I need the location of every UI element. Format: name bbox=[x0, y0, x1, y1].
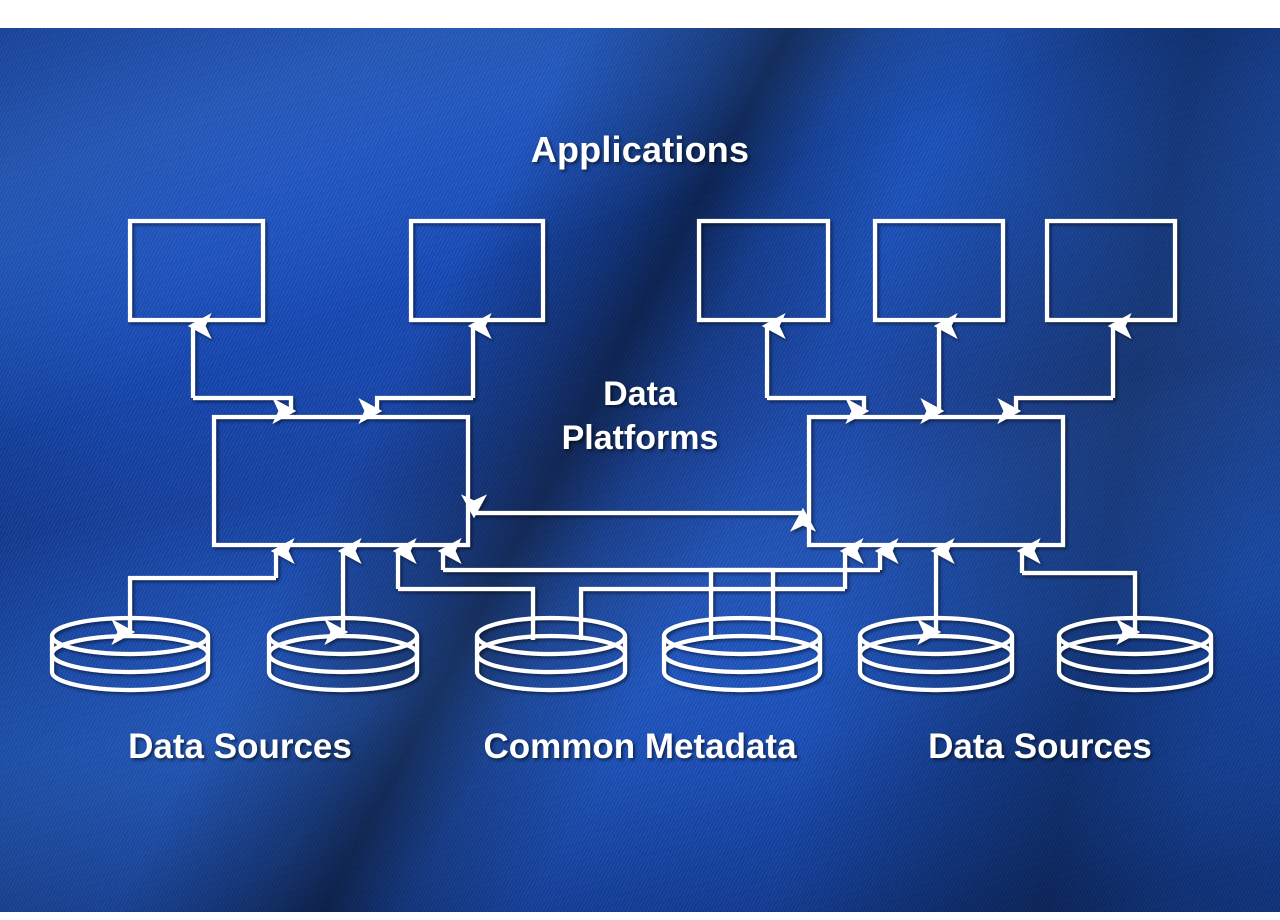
metadata-cylinder-3[interactable] bbox=[477, 618, 625, 690]
connector-app1-platform-left-elbow[interactable] bbox=[193, 398, 291, 411]
data-platform-box-left[interactable] bbox=[214, 417, 468, 545]
section-label-common-metadata: Common Metadata bbox=[420, 729, 860, 766]
connector-platform-left-cyl3-elbow[interactable] bbox=[398, 589, 533, 640]
application-box-5[interactable] bbox=[1047, 221, 1175, 320]
section-label-data-sources-left: Data Sources bbox=[20, 729, 460, 766]
application-box-3[interactable] bbox=[699, 221, 828, 320]
metadata-cylinder-4[interactable] bbox=[664, 618, 820, 690]
data-platform-box-right[interactable] bbox=[809, 417, 1063, 545]
connector-platform-left-cyl4-elbow[interactable] bbox=[443, 570, 773, 640]
page-title-applications: Applications bbox=[340, 131, 940, 169]
connector-platform-left-cyl1-elbow[interactable] bbox=[130, 578, 276, 632]
section-title-data-platforms: Data Platforms bbox=[470, 373, 810, 460]
section-label-data-sources-right: Data Sources bbox=[830, 729, 1250, 766]
application-box-4[interactable] bbox=[875, 221, 1003, 320]
slide-canvas: Applications Data Platforms Data Sources… bbox=[0, 0, 1280, 920]
application-box-1[interactable] bbox=[130, 221, 263, 320]
connector-app2-platform-left-elbow[interactable] bbox=[377, 398, 473, 411]
connector-platform-right-cyl4-elbow[interactable] bbox=[711, 570, 880, 640]
data-store-cylinders-group bbox=[52, 618, 1211, 690]
connector-app5-platform-right-elbow[interactable] bbox=[1016, 398, 1113, 411]
application-boxes-group bbox=[130, 221, 1175, 320]
application-box-2[interactable] bbox=[411, 221, 543, 320]
